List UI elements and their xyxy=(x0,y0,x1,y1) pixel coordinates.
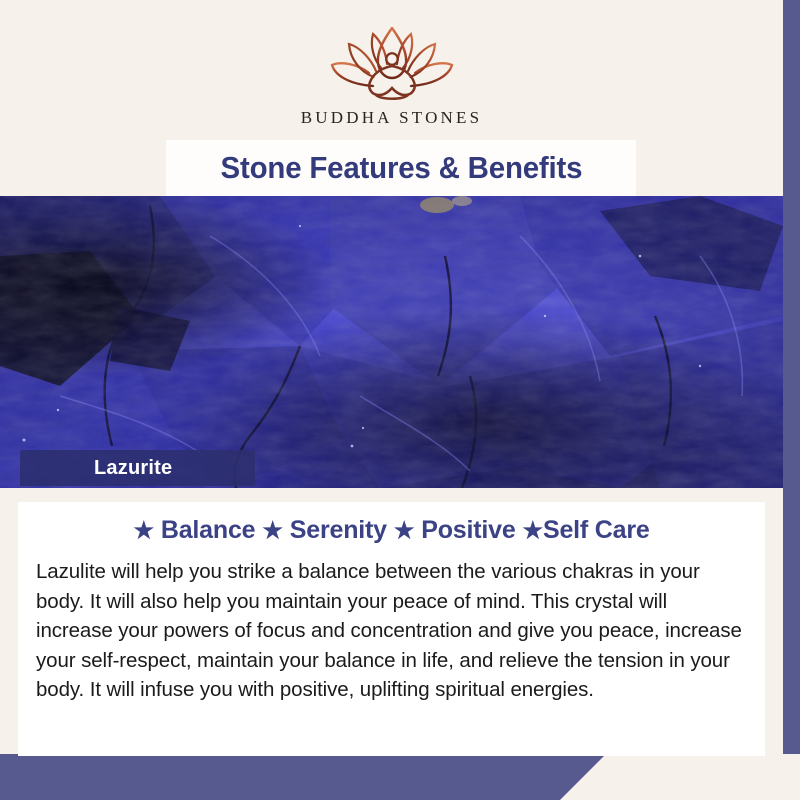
star-icon: ★ xyxy=(394,517,414,543)
stone-name-badge: Lazurite xyxy=(20,450,255,486)
brand-header: BUDDHA STONES xyxy=(0,0,783,150)
title-banner: Stone Features & Benefits xyxy=(166,140,636,196)
stone-description-panel: ★Balance★Serenity★Positive★Self Care Laz… xyxy=(18,488,765,756)
brand-name: BUDDHA STONES xyxy=(301,108,483,128)
keyword-serenity: Serenity xyxy=(290,516,387,544)
star-icon: ★ xyxy=(523,517,543,543)
lazurite-stone-photo xyxy=(0,196,783,488)
page-title: Stone Features & Benefits xyxy=(220,150,582,186)
keyword-self-care: Self Care xyxy=(543,516,650,544)
keyword-positive: Positive xyxy=(421,516,515,544)
keyword-balance: Balance xyxy=(161,516,256,544)
star-icon: ★ xyxy=(133,517,153,543)
lotus-meditation-figure-icon xyxy=(317,22,467,104)
stone-description-text: Lazulite will help you strike a balance … xyxy=(32,557,751,705)
stone-info-poster: BUDDHA STONES Stone Features & Benefits xyxy=(0,0,800,800)
panel-top-cream-strip xyxy=(18,488,765,502)
star-icon: ★ xyxy=(262,517,282,543)
benefit-keywords-row: ★Balance★Serenity★Positive★Self Care xyxy=(32,516,751,545)
stone-name-label: Lazurite xyxy=(20,457,172,480)
